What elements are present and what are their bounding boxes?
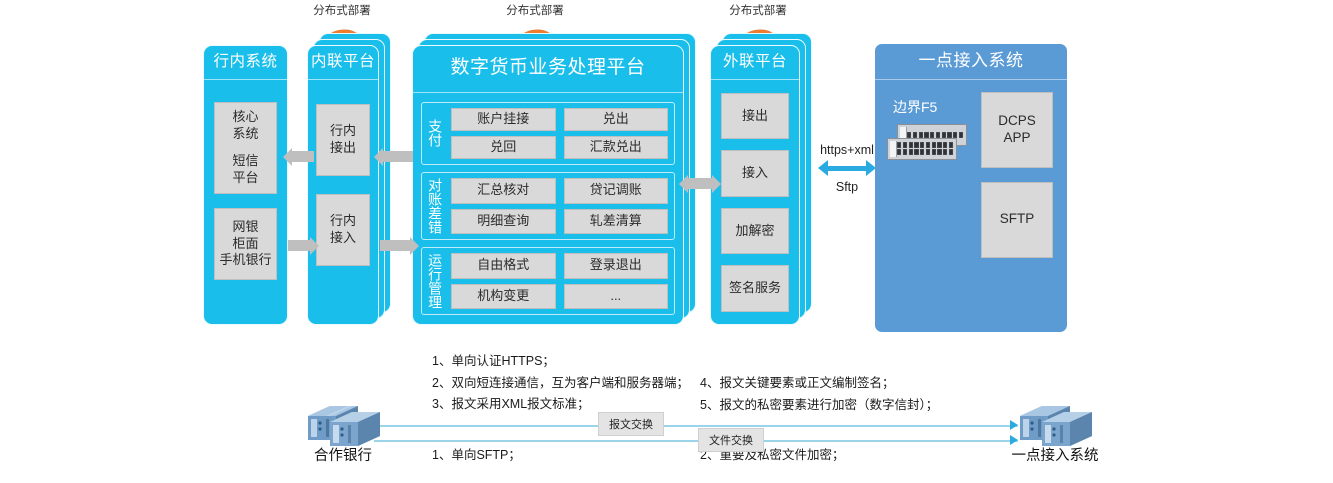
group-operations: 运行管理 自由格式 登录退出 机构变更 ... xyxy=(421,247,675,315)
feature-box[interactable]: 兑出 xyxy=(564,108,669,131)
server-icon xyxy=(1012,400,1098,448)
group-operations-label: 运行管理 xyxy=(424,253,446,309)
switch-device-lower xyxy=(887,138,957,160)
protocol-connector: https+xml Sftp xyxy=(818,143,876,194)
external-outbound-box[interactable]: 接出 xyxy=(721,93,789,140)
feature-box[interactable]: 明细查询 xyxy=(451,209,556,235)
external-platform-card: 外联平台 接出 接入 加解密 签名服务 xyxy=(710,45,800,325)
group-reconciliation: 对账差错 汇总核对 贷记调账 明细查询 轧差清算 xyxy=(421,172,675,240)
server-icon xyxy=(300,400,386,448)
feature-box[interactable]: 汇总核对 xyxy=(451,178,556,204)
feature-box[interactable]: 轧差清算 xyxy=(564,209,669,235)
f5-label: 边界F5 xyxy=(893,97,937,117)
dcep-platform-card: 数字货币业务处理平台 支付 账户挂接 兑出 兑回 汇款兑出 对账差错 汇总核对 xyxy=(412,45,684,325)
panel-onepoint-system: 一点接入系统 边界F5 DCPS APP SFTP xyxy=(875,44,1067,332)
bidirectional-arrow-icon xyxy=(818,160,876,176)
external-platform-title: 外联平台 xyxy=(711,46,799,80)
network-switch-icon xyxy=(887,124,969,162)
message-exchange-chip: 报文交换 xyxy=(598,412,664,436)
group-payment: 支付 账户挂接 兑出 兑回 汇款兑出 xyxy=(421,102,675,165)
partner-bank-node: 合作银行 xyxy=(300,400,386,470)
panel-dcep-platform: 数字货币业务处理平台 支付 账户挂接 兑出 兑回 汇款兑出 对账差错 汇总核对 xyxy=(412,45,684,325)
onepoint-system-title: 一点接入系统 xyxy=(875,44,1067,80)
message-notes-right: 4、报文关键要素或正文编制签名； 5、报文的私密要素进行加密（数字信封）； xyxy=(700,373,938,416)
intranet-platform-card: 内联平台 行内 接出 行内 接入 xyxy=(307,45,379,325)
internal-system-card: 行内系统 核心 系统 短信 平台 网银 柜面 手机银行 xyxy=(203,45,288,325)
group-payment-label: 支付 xyxy=(424,108,446,159)
protocol-upper-label: https+xml xyxy=(818,143,876,157)
channels-label: 网银 柜面 手机银行 xyxy=(219,219,271,269)
panel-intranet-platform: 内联平台 行内 接出 行内 接入 xyxy=(307,45,379,325)
file-exchange-line xyxy=(374,440,1018,442)
intranet-outbound-label: 行内 接出 xyxy=(330,123,356,156)
intranet-outbound-box[interactable]: 行内 接出 xyxy=(316,104,370,176)
onepoint-access-label: 一点接入系统 xyxy=(1012,444,1099,465)
encryption-box[interactable]: 加解密 xyxy=(721,208,789,255)
deploy-label: 分布式部署 xyxy=(712,2,804,18)
note-line: 1、单向SFTP； xyxy=(432,445,521,467)
note-line: 5、报文的私密要素进行加密（数字信封）； xyxy=(700,395,938,417)
arrow-dcep-to-intranet xyxy=(383,151,413,162)
feature-box[interactable]: 机构变更 xyxy=(451,284,556,310)
message-exchange-line xyxy=(374,425,1018,427)
panel-external-platform: 外联平台 接出 接入 加解密 签名服务 xyxy=(710,45,800,325)
partner-bank-label: 合作银行 xyxy=(314,444,372,465)
channels-box[interactable]: 网银 柜面 手机银行 xyxy=(214,208,277,280)
sftp-label: SFTP xyxy=(1000,211,1035,228)
group-reconciliation-label: 对账差错 xyxy=(424,178,446,234)
core-system-label: 核心 系统 xyxy=(232,109,258,142)
feature-box[interactable]: 自由格式 xyxy=(451,253,556,279)
intranet-platform-title: 内联平台 xyxy=(308,46,378,80)
internal-system-title: 行内系统 xyxy=(204,46,287,80)
note-line: 1、单向认证HTTPS； xyxy=(432,351,689,373)
intranet-inbound-box[interactable]: 行内 接入 xyxy=(316,194,370,266)
deploy-label: 分布式部署 xyxy=(296,2,388,18)
dcps-app-label: DCPS APP xyxy=(998,113,1036,147)
file-notes-left: 1、单向SFTP； xyxy=(432,445,521,467)
feature-box[interactable]: ... xyxy=(564,284,669,310)
feature-box[interactable]: 汇款兑出 xyxy=(564,136,669,159)
file-exchange-chip: 文件交换 xyxy=(698,428,764,452)
panel-internal-system: 行内系统 核心 系统 短信 平台 网银 柜面 手机银行 xyxy=(203,45,288,325)
core-system-box[interactable]: 核心 系统 短信 平台 xyxy=(214,102,277,194)
external-inbound-box[interactable]: 接入 xyxy=(721,150,789,197)
intranet-inbound-label: 行内 接入 xyxy=(330,213,356,246)
protocol-lower-label: Sftp xyxy=(818,180,876,194)
note-line: 4、报文关键要素或正文编制签名； xyxy=(700,373,938,395)
feature-box[interactable]: 兑回 xyxy=(451,136,556,159)
dcep-platform-title: 数字货币业务处理平台 xyxy=(413,46,683,93)
message-notes-left: 1、单向认证HTTPS； 2、双向短连接通信，互为客户端和服务器端； 3、报文采… xyxy=(432,351,689,416)
feature-box[interactable]: 贷记调账 xyxy=(564,178,669,204)
onepoint-access-node: 一点接入系统 xyxy=(1012,400,1098,470)
signature-service-box[interactable]: 签名服务 xyxy=(721,265,789,312)
arrow-channels-to-intranet xyxy=(288,240,310,251)
note-line: 2、双向短连接通信，互为客户端和服务器端； xyxy=(432,373,689,395)
dcps-app-box[interactable]: DCPS APP xyxy=(981,92,1053,168)
sms-platform-label: 短信 平台 xyxy=(232,153,258,186)
arrow-intranet-to-core xyxy=(292,151,314,162)
deploy-label: 分布式部署 xyxy=(489,2,581,18)
arrow-dcep-external xyxy=(688,178,712,189)
feature-box[interactable]: 账户挂接 xyxy=(451,108,556,131)
sftp-box[interactable]: SFTP xyxy=(981,182,1053,258)
feature-box[interactable]: 登录退出 xyxy=(564,253,669,279)
arrow-intranet-to-dcep xyxy=(380,240,410,251)
architecture-diagram: 分布式部署 分布式部署 分布式部署 行内系统 核心 系统 短信 平台 xyxy=(0,0,1333,483)
